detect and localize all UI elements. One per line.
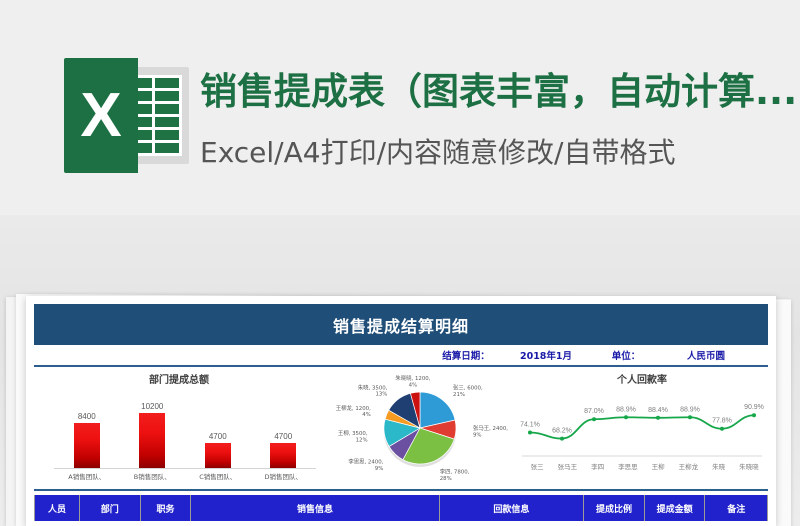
line-data-point (560, 437, 564, 441)
line-data-point (656, 416, 660, 420)
bar-rect (139, 413, 165, 468)
pie-data-label: 朱晓晓, 1200,4% (395, 374, 430, 388)
bar-rect (205, 443, 231, 468)
bar-value-label: 4700 (209, 432, 227, 441)
pie-data-label: 张马王, 2400,9% (473, 424, 508, 438)
line-data-point (592, 417, 596, 421)
line-category-label: 朱晓晓 (734, 461, 764, 471)
line-data-point (720, 427, 724, 431)
line-chart-title: 个人回款率 (516, 367, 768, 386)
table-column-header[interactable]: 部门 (80, 495, 141, 521)
line-category-label: 李思思 (613, 461, 643, 471)
table-column-header[interactable]: 销售信息 (191, 495, 439, 521)
settlement-date-value: 2018年1月 (502, 348, 590, 362)
line-data-label: 87.0% (584, 408, 604, 415)
line-category-label: 李四 (583, 461, 613, 471)
pie-data-label: 李思思, 2400,9% (348, 457, 383, 471)
sheet-meta-row: 结算日期： 2018年1月 单位： 人民币圆 (34, 345, 768, 367)
pie-data-label: 王柳龙, 1200,4% (336, 404, 371, 418)
table-column-header[interactable]: 提成金额 (645, 495, 706, 521)
promo-banner: X 销售提成表（图表丰富，自动计算... Excel/A4打印/内容随意修改/自… (0, 0, 800, 215)
bar-category-label: D销售团队、 (255, 471, 311, 481)
line-chart: 个人回款率 74.1%68.2%87.0%88.9%88.4%88.9%77.8… (516, 367, 768, 491)
line-data-label: 90.9% (744, 404, 764, 411)
bar-column: 4700 (190, 389, 246, 468)
pie-chart-plot: 张三, 6000,21%张马王, 2400,9%李四, 7800,28%李思思,… (324, 371, 516, 491)
banner-subtitle: Excel/A4打印/内容随意修改/自带格式 (200, 132, 800, 174)
bar-column: 4700 (255, 389, 311, 468)
excel-logo-icon: X (64, 58, 189, 173)
line-data-point (624, 415, 628, 419)
line-data-point (528, 430, 532, 434)
pie-data-label: 王柳, 3500,12% (338, 429, 368, 443)
line-chart-svg: 74.1%68.2%87.0%88.9%88.4%88.9%77.8%90.9% (516, 385, 768, 461)
sheet-title: 销售提成结算明细 (34, 304, 768, 345)
pie-data-label: 李四, 7800,28% (440, 467, 470, 481)
line-data-label: 68.2% (552, 428, 572, 435)
bar-category-label: B销售团队、 (124, 471, 180, 481)
table-column-header[interactable]: 备注 (705, 495, 768, 521)
line-chart-xaxis: 张三张马王李四李思思王柳王柳龙朱晓朱晓晓 (522, 461, 764, 471)
bar-chart-title: 部门提成总额 (34, 367, 324, 386)
bar-rect (270, 443, 296, 468)
settlement-date-label: 结算日期： (430, 348, 502, 362)
bar-column: 10200 (124, 389, 180, 468)
line-data-point (688, 415, 692, 419)
data-table-header[interactable]: 人员部门职务销售信息回款信息提成比例提成金额备注 (34, 495, 768, 521)
bar-value-label: 4700 (274, 432, 292, 441)
pie-chart-svg: 张三, 6000,21%张马王, 2400,9%李四, 7800,28%李思思,… (324, 371, 516, 491)
line-category-label: 王柳龙 (673, 461, 703, 471)
line-data-label: 88.9% (616, 406, 636, 413)
line-data-point (752, 413, 756, 417)
pie-data-label: 张三, 6000,21% (453, 384, 483, 398)
line-data-label: 74.1% (520, 421, 540, 428)
bar-chart-plot: 84001020047004700 (54, 389, 316, 469)
bar-value-label: 10200 (141, 402, 163, 411)
line-chart-plot: 74.1%68.2%87.0%88.9%88.4%88.9%77.8%90.9% (516, 385, 768, 457)
pie-data-label: 朱晓, 3500,13% (358, 383, 388, 397)
spreadsheet-preview[interactable]: 销售提成结算明细 结算日期： 2018年1月 单位： 人民币圆 部门提成总额 8… (26, 296, 776, 526)
bar-rect (74, 423, 100, 468)
bar-chart: 部门提成总额 84001020047004700 A销售团队、B销售团队、C销售… (34, 367, 324, 491)
table-column-header[interactable]: 人员 (35, 495, 80, 521)
line-data-label: 77.8% (712, 418, 732, 425)
bar-column: 8400 (59, 389, 115, 468)
line-category-label: 朱晓 (704, 461, 734, 471)
bar-value-label: 8400 (78, 412, 96, 421)
line-category-label: 王柳 (643, 461, 673, 471)
table-column-header[interactable]: 回款信息 (440, 495, 585, 521)
bar-category-label: A销售团队、 (59, 471, 115, 481)
charts-strip: 部门提成总额 84001020047004700 A销售团队、B销售团队、C销售… (34, 367, 768, 491)
table-column-header[interactable]: 职务 (141, 495, 192, 521)
line-category-label: 张三 (522, 461, 552, 471)
page-root: X 销售提成表（图表丰富，自动计算... Excel/A4打印/内容随意修改/自… (0, 0, 800, 526)
excel-logo-letter: X (64, 58, 138, 173)
line-category-label: 张马王 (552, 461, 582, 471)
bar-category-label: C销售团队、 (190, 471, 246, 481)
unit-label: 单位： (590, 348, 662, 362)
pie-chart: 张三, 6000,21%张马王, 2400,9%李四, 7800,28%李思思,… (324, 367, 516, 491)
table-column-header[interactable]: 提成比例 (584, 495, 645, 521)
unit-value: 人民币圆 (662, 348, 750, 362)
line-data-label: 88.9% (680, 406, 700, 413)
bar-chart-xaxis: A销售团队、B销售团队、C销售团队、D销售团队、 (54, 471, 316, 481)
banner-title: 销售提成表（图表丰富，自动计算... (200, 64, 800, 120)
line-data-label: 88.4% (648, 407, 668, 414)
